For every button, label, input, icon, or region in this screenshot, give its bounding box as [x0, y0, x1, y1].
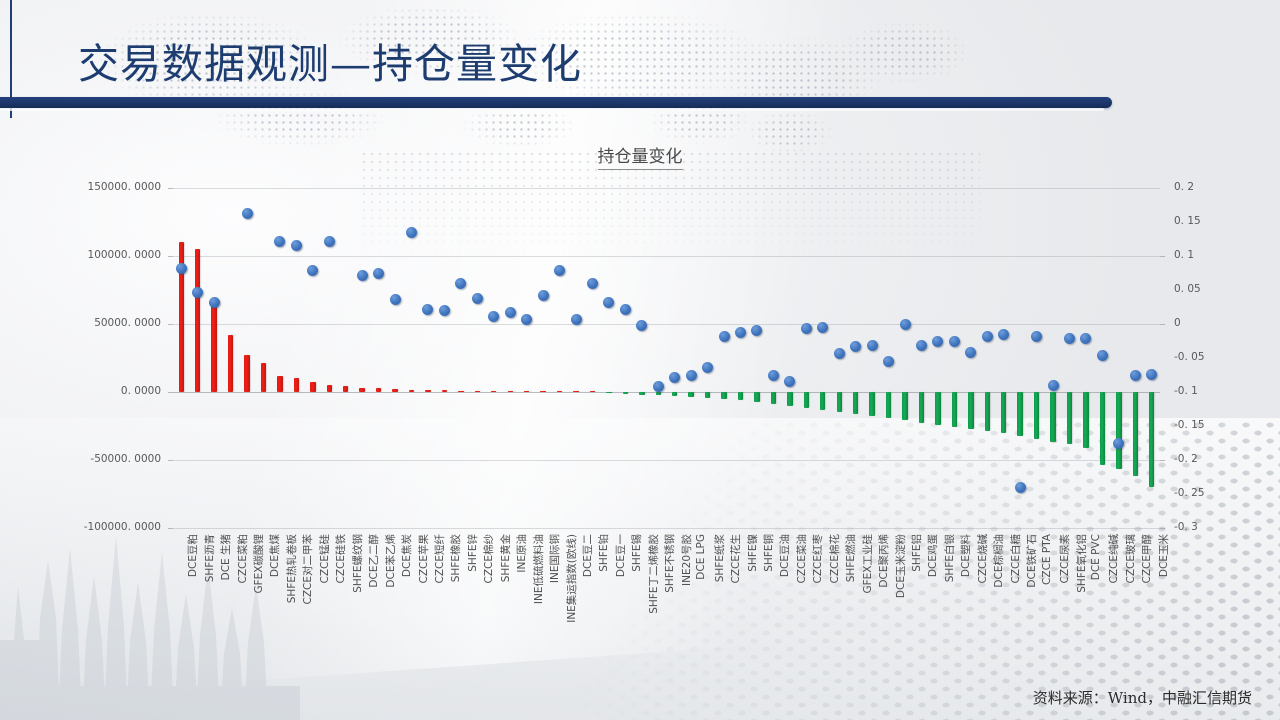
- x-axis-category-label: SHFE氧化铝: [1074, 534, 1089, 593]
- chart-bar: [359, 388, 364, 392]
- x-axis-category-label: CZCE尿素: [1057, 534, 1072, 584]
- x-axis-category-label: SHFE纸浆: [712, 534, 727, 582]
- x-axis-category-label: CZCE棉纱: [481, 534, 496, 584]
- chart-bar: [540, 391, 545, 393]
- right-axis-tick-label: 0. 2: [1174, 181, 1194, 193]
- chart-bar: [1001, 392, 1006, 433]
- chart-scatter-point: [768, 370, 779, 381]
- x-axis-category-label: DCE 生猪: [218, 534, 233, 580]
- chart-scatter-point: [307, 265, 318, 276]
- chart-bar: [310, 382, 315, 392]
- chart-bar: [228, 335, 233, 392]
- chart-scatter-point: [998, 329, 1009, 340]
- x-axis-category-label: DCE豆二: [580, 534, 595, 577]
- x-axis-category-label: INE20号胶: [679, 534, 694, 586]
- right-axis-tick-label: -0. 3: [1174, 521, 1198, 533]
- chart-bar: [590, 391, 595, 393]
- x-axis-category-label: INE低硫燃料油: [531, 534, 546, 604]
- x-axis-category-label: DCE棕榈油: [991, 534, 1006, 588]
- x-axis-category-label: DCE豆一: [613, 534, 628, 577]
- left-axis-tick-label: -50000. 0000: [90, 453, 161, 465]
- chart-scatter-point: [209, 297, 220, 308]
- chart-scatter-point: [505, 307, 516, 318]
- right-axis-tick-mark: [1160, 256, 1165, 257]
- chart-bar: [1017, 392, 1022, 436]
- left-axis-tick-mark: [168, 392, 173, 393]
- x-axis-category-label: SHFE铝: [909, 534, 924, 572]
- gridline: [173, 460, 1160, 461]
- chart-scatter-point: [571, 314, 582, 325]
- x-axis-category-label: SHFE镍: [745, 534, 760, 572]
- chart-bar: [392, 389, 397, 392]
- x-axis-category-label: SHFE丁二烯橡胶: [646, 534, 661, 614]
- chart-scatter-point: [274, 236, 285, 247]
- chart-scatter-point: [932, 336, 943, 347]
- x-axis-category-label: SHFE白银: [942, 534, 957, 582]
- source-note: 资料来源：Wind，中融汇信期货: [1033, 687, 1252, 708]
- x-axis-category-label: CZCE锰硅: [317, 534, 332, 584]
- chart-scatter-point: [521, 314, 532, 325]
- x-axis-category-label: DCE PVC: [1090, 534, 1102, 580]
- chart-scatter-point: [636, 320, 647, 331]
- left-axis-tick-mark: [168, 528, 173, 529]
- chart-scatter-point: [176, 263, 187, 274]
- chart-bar: [442, 390, 447, 392]
- x-axis-category-label: CZCE白糖: [1008, 534, 1023, 584]
- chart-scatter-point: [1130, 370, 1141, 381]
- x-axis-category-label: SHFE橡胶: [448, 534, 463, 582]
- header-accent-bar-highlight: [0, 108, 1104, 111]
- chart-bar: [409, 390, 414, 392]
- chart-scatter-point: [949, 336, 960, 347]
- x-axis-category-label: SHFE铜: [761, 534, 776, 572]
- x-axis-category-label: CZCE烧碱: [975, 534, 990, 584]
- chart-bar: [557, 391, 562, 393]
- chart-bar: [606, 392, 611, 394]
- x-axis-category-label: DCE LPG: [695, 534, 707, 580]
- x-axis-category-label: DCE玉米淀粉: [893, 534, 908, 598]
- chart-bar: [277, 376, 282, 392]
- x-axis-category-label: GFEX工业硅: [860, 534, 875, 594]
- chart-bar: [853, 392, 858, 414]
- left-axis-tick-mark: [168, 460, 173, 461]
- chart-bar: [787, 392, 792, 406]
- right-axis-tick-label: -0. 25: [1174, 487, 1205, 499]
- x-axis-category-label: DCE铁矿石: [1024, 534, 1039, 588]
- chart-scatter-point: [538, 290, 549, 301]
- x-axis-category-label: CZCE苹果: [416, 534, 431, 584]
- left-axis-tick-label: 50000. 0000: [94, 317, 161, 329]
- chart-scatter-point: [620, 304, 631, 315]
- chart-bar: [458, 391, 463, 393]
- chart-bar: [244, 355, 249, 392]
- chart-scatter-point: [357, 270, 368, 281]
- chart-bar: [524, 391, 529, 393]
- chart-scatter-point: [784, 376, 795, 387]
- holdings-change-chart: 持仓量变化 150000. 0000100000. 000050000. 000…: [0, 120, 1280, 720]
- chart-bar: [886, 392, 891, 418]
- x-axis-category-label: DCE焦炭: [399, 534, 414, 577]
- chart-bar: [491, 391, 496, 393]
- chart-bar: [902, 392, 907, 420]
- chart-bar: [952, 392, 957, 427]
- chart-bar: [738, 392, 743, 400]
- chart-scatter-point: [883, 356, 894, 367]
- x-axis-category-label: SHFE锡: [629, 534, 644, 572]
- x-axis-category-label: DCE焦煤: [267, 534, 282, 577]
- x-axis-category-label: CZCE棉花: [827, 534, 842, 584]
- right-axis-tick-label: 0. 05: [1174, 283, 1201, 295]
- zero-axis-line: [173, 392, 1160, 393]
- x-axis-category-label: SHFE黄金: [498, 534, 513, 582]
- x-axis-category-label: SHFE锌: [465, 534, 480, 572]
- x-axis-category-label: CZCE甲醇: [1139, 534, 1154, 584]
- chart-scatter-point: [324, 236, 335, 247]
- chart-scatter-point: [422, 304, 433, 315]
- x-axis-category-label: SHFE铂: [596, 534, 611, 572]
- right-axis-tick-label: -0. 15: [1174, 419, 1205, 431]
- chart-bar: [1050, 392, 1055, 442]
- chart-scatter-point: [291, 240, 302, 251]
- right-axis-tick-label: 0. 15: [1174, 215, 1201, 227]
- gridline: [173, 528, 1160, 529]
- x-axis-category-label: CZCE菜粕: [235, 534, 250, 584]
- chart-scatter-point: [192, 287, 203, 298]
- chart-scatter-point: [390, 294, 401, 305]
- left-axis-tick-label: 100000. 0000: [88, 249, 161, 261]
- chart-scatter-point: [834, 348, 845, 359]
- chart-bar: [376, 388, 381, 392]
- x-axis-category-label: DCE聚丙烯: [876, 534, 891, 588]
- chart-scatter-point: [669, 372, 680, 383]
- right-axis-tick-mark: [1160, 528, 1165, 529]
- x-axis-category-label: DCE苯乙烯: [383, 534, 398, 588]
- chart-bar: [343, 386, 348, 392]
- x-axis-category-label: SHFE沥青: [202, 534, 217, 582]
- x-axis-category-label: INE原油: [514, 534, 529, 573]
- x-axis-category-label: CZCE纯碱: [1106, 534, 1121, 584]
- right-axis-tick-mark: [1160, 324, 1165, 325]
- chart-scatter-point: [900, 319, 911, 330]
- chart-scatter-point: [554, 265, 565, 276]
- x-axis-category-label: DCE塑料: [958, 534, 973, 577]
- chart-scatter-point: [1113, 438, 1124, 449]
- gridline: [173, 188, 1160, 189]
- chart-bar: [968, 392, 973, 429]
- right-axis-tick-label: -0. 2: [1174, 453, 1198, 465]
- chart-bar: [1149, 392, 1154, 487]
- chart-scatter-point: [373, 268, 384, 279]
- chart-scatter-point: [488, 311, 499, 322]
- chart-bar: [771, 392, 776, 404]
- x-axis-category-label: DCE豆粕: [185, 534, 200, 577]
- chart-scatter-point: [455, 278, 466, 289]
- x-axis-category-label: INE集运指数(欧线): [564, 534, 579, 623]
- right-axis-tick-mark: [1160, 460, 1165, 461]
- x-axis-category-label: CZCE对二甲苯: [300, 534, 315, 605]
- chart-bar: [508, 391, 513, 393]
- x-axis-category-label: SHFE热轧卷板: [284, 534, 299, 603]
- left-axis-tick-mark: [168, 324, 173, 325]
- chart-scatter-point: [406, 227, 417, 238]
- chart-scatter-point: [653, 381, 664, 392]
- chart-bar: [1083, 392, 1088, 448]
- chart-scatter-point: [1064, 333, 1075, 344]
- x-axis-category-label: INE国际铜: [547, 534, 562, 583]
- chart-scatter-point: [242, 208, 253, 219]
- chart-bar: [754, 392, 759, 402]
- right-axis-tick-label: 0: [1174, 317, 1181, 329]
- page-title: 交易数据观测—持仓量变化: [78, 30, 582, 90]
- chart-bar: [261, 363, 266, 392]
- chart-bar: [425, 390, 430, 392]
- chart-bar: [211, 304, 216, 392]
- x-axis-category-label: DCE豆油: [777, 534, 792, 577]
- chart-bar: [1116, 392, 1121, 469]
- chart-bar: [672, 392, 677, 396]
- chart-bar: [1034, 392, 1039, 439]
- left-axis-tick-mark: [168, 188, 173, 189]
- chart-scatter-point: [1015, 482, 1026, 493]
- x-axis-category-label: GFEX碳酸锂: [251, 534, 266, 594]
- chart-scatter-point: [735, 327, 746, 338]
- chart-scatter-point: [686, 370, 697, 381]
- chart-scatter-point: [472, 293, 483, 304]
- x-axis-category-label: DCE鸡蛋: [925, 534, 940, 577]
- chart-scatter-point: [1048, 380, 1059, 391]
- x-axis-category-label: SHFE螺纹钢: [350, 534, 365, 593]
- chart-scatter-point: [603, 297, 614, 308]
- x-axis-category-label: CZCE红枣: [810, 534, 825, 584]
- chart-scatter-point: [817, 322, 828, 333]
- chart-bar: [475, 391, 480, 393]
- chart-bar: [294, 378, 299, 392]
- chart-bar: [573, 391, 578, 393]
- right-axis-tick-label: -0. 05: [1174, 351, 1205, 363]
- chart-scatter-point: [1097, 350, 1108, 361]
- chart-bar: [1100, 392, 1105, 465]
- x-axis-category-label: CZCE花生: [728, 534, 743, 584]
- chart-bar: [1133, 392, 1138, 476]
- left-axis-tick-mark: [168, 256, 173, 257]
- chart-bar: [195, 249, 200, 392]
- chart-scatter-point: [1080, 333, 1091, 344]
- chart-bar: [639, 392, 644, 395]
- x-axis-category-label: SHFE燃油: [843, 534, 858, 582]
- x-axis-category-label: CZCE短纤: [432, 534, 447, 584]
- chart-scatter-point: [916, 340, 927, 351]
- chart-bar: [705, 392, 710, 398]
- chart-scatter-point: [439, 305, 450, 316]
- x-axis-category-label: SHFE不锈钢: [662, 534, 677, 593]
- header-accent-bar: [0, 97, 1112, 108]
- chart-bar: [820, 392, 825, 410]
- chart-bar: [327, 385, 332, 392]
- chart-scatter-point: [719, 331, 730, 342]
- chart-bar: [623, 392, 628, 394]
- x-axis-category-label: DCE乙二醇: [366, 534, 381, 588]
- chart-title: 持仓量变化: [0, 142, 1280, 167]
- x-axis-category-label: CZCE玻璃: [1123, 534, 1138, 584]
- chart-bar: [985, 392, 990, 431]
- chart-scatter-point: [867, 340, 878, 351]
- left-axis-tick-label: -100000. 0000: [84, 521, 161, 533]
- slide-canvas: 交易数据观测—持仓量变化 持仓量变化 150000. 0000100000. 0…: [0, 0, 1280, 720]
- left-axis-tick-label: 150000. 0000: [88, 181, 161, 193]
- right-axis-tick-label: 0. 1: [1174, 249, 1194, 261]
- chart-bar: [688, 392, 693, 397]
- chart-scatter-point: [801, 323, 812, 334]
- x-axis-category-label: DCE玉米: [1156, 534, 1171, 577]
- gridline: [173, 256, 1160, 257]
- x-axis-category-label: CZCE硅铁: [333, 534, 348, 584]
- chart-bar: [721, 392, 726, 399]
- chart-bar: [1067, 392, 1072, 444]
- x-axis-category-label: CZCE菜油: [794, 534, 809, 584]
- chart-scatter-point: [751, 325, 762, 336]
- right-axis-tick-label: -0. 1: [1174, 385, 1198, 397]
- left-axis-tick-label: 0. 0000: [121, 385, 161, 397]
- chart-bar: [869, 392, 874, 416]
- chart-scatter-point: [702, 362, 713, 373]
- chart-scatter-point: [1031, 331, 1042, 342]
- chart-plot-area: 150000. 0000100000. 000050000. 00000. 00…: [173, 188, 1160, 528]
- chart-bar: [919, 392, 924, 423]
- chart-scatter-point: [982, 331, 993, 342]
- x-axis-category-label: CZCE PTA: [1041, 534, 1053, 585]
- chart-bar: [656, 392, 661, 395]
- chart-bar: [837, 392, 842, 412]
- chart-scatter-point: [965, 347, 976, 358]
- chart-scatter-point: [587, 278, 598, 289]
- gridline: [173, 324, 1160, 325]
- chart-bar: [935, 392, 940, 425]
- chart-scatter-point: [850, 341, 861, 352]
- chart-scatter-point: [1146, 369, 1157, 380]
- chart-title-text: 持仓量变化: [598, 147, 683, 170]
- chart-bar: [804, 392, 809, 408]
